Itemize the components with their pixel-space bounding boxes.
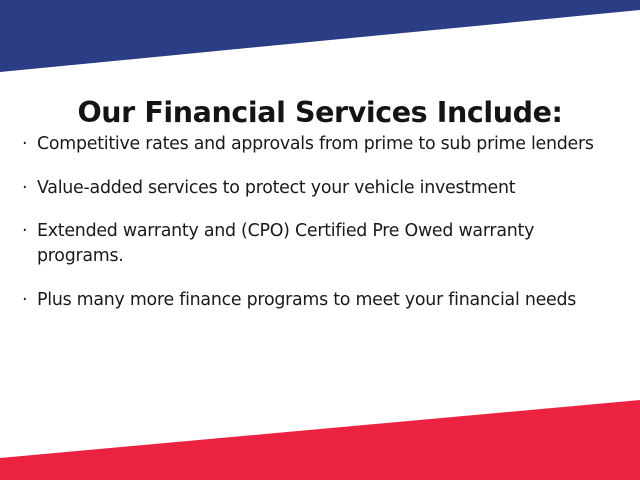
blue-wedge-shape: [0, 0, 640, 72]
bullet-point-icon: ·: [22, 219, 37, 244]
red-diagonal-band: [0, 390, 640, 480]
bullet-point-icon: ·: [22, 132, 37, 157]
bullet-point-icon: ·: [22, 288, 37, 313]
page-title: Our Financial Services Include:: [0, 96, 640, 130]
list-item: · Extended warranty and (CPO) Certified …: [22, 219, 622, 268]
red-wedge-shape: [0, 400, 640, 480]
services-bullet-list: · Competitive rates and approvals from p…: [22, 132, 622, 313]
list-item-label: Value-added services to protect your veh…: [37, 176, 622, 201]
list-item: · Competitive rates and approvals from p…: [22, 132, 622, 157]
list-item: · Plus many more finance programs to mee…: [22, 288, 622, 313]
list-item: · Value-added services to protect your v…: [22, 176, 622, 201]
slide-canvas: Our Financial Services Include: · Compet…: [0, 0, 640, 480]
blue-diagonal-band: [0, 0, 640, 80]
bullet-point-icon: ·: [22, 176, 37, 201]
list-item-label: Extended warranty and (CPO) Certified Pr…: [37, 219, 622, 268]
list-item-label: Competitive rates and approvals from pri…: [37, 132, 622, 157]
list-item-label: Plus many more finance programs to meet …: [37, 288, 622, 313]
